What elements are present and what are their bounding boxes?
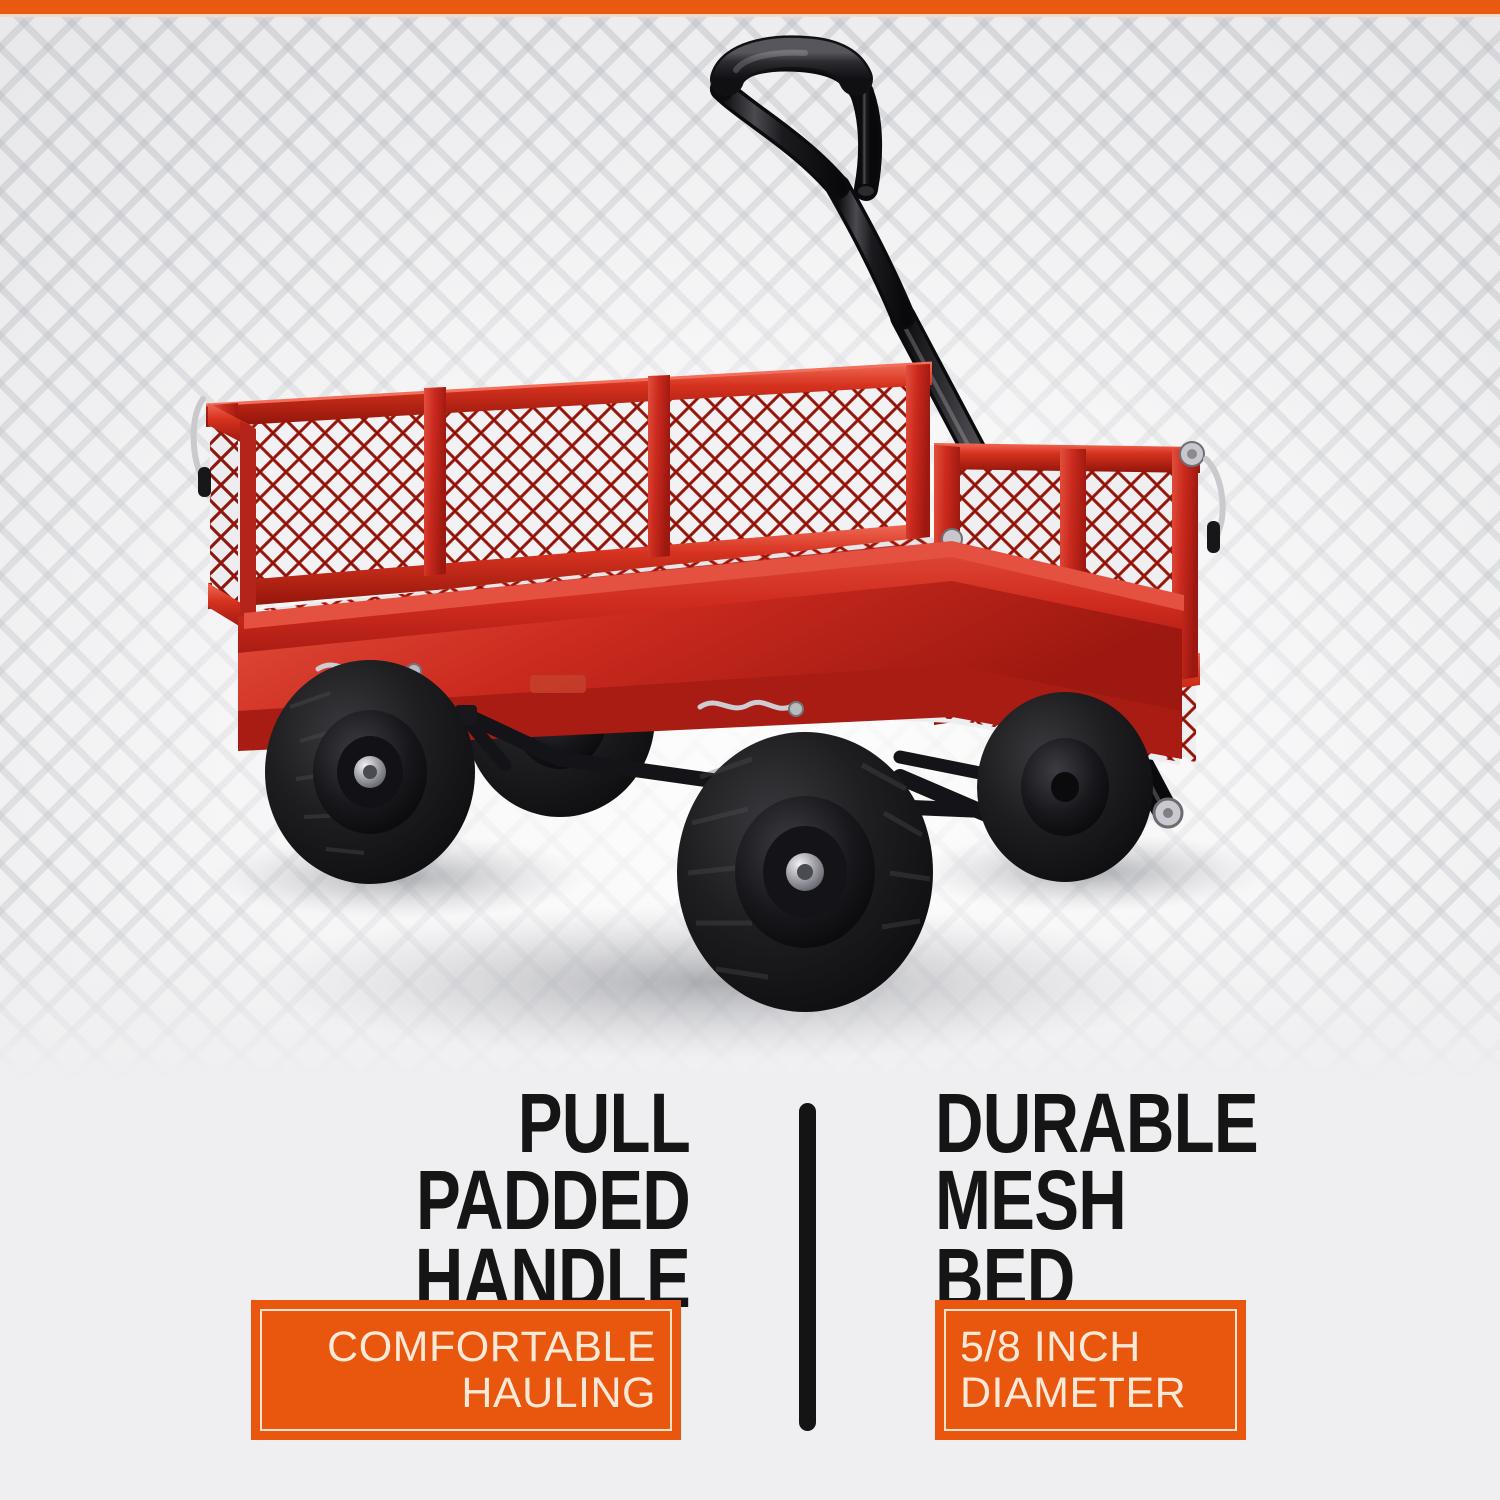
badge-five-eighths-inch-diameter: 5/8 INCH DIAMETER: [935, 1300, 1246, 1440]
feature-title-right: DURABLE MESH BED: [935, 1085, 1271, 1317]
top-accent-stripe: [0, 0, 1500, 14]
vertical-divider-bar: [799, 1103, 816, 1431]
feature-section: PULL PADDED HANDLE DURABLE MESH BED: [0, 1085, 1500, 1465]
product-photo: [0, 17, 1500, 1077]
badge-comfortable-hauling: COMFORTABLE HAULING: [251, 1300, 681, 1440]
badge-left-line-1: COMFORTABLE: [327, 1324, 656, 1370]
badge-left-inner-border: COMFORTABLE HAULING: [260, 1309, 672, 1431]
wheel-front-left: [265, 660, 475, 884]
badge-right-line-2: DIAMETER: [960, 1370, 1186, 1416]
feature-title-left: PULL PADDED HANDLE: [258, 1085, 690, 1317]
badge-right-inner-border: 5/8 INCH DIAMETER: [944, 1309, 1237, 1431]
badge-right-line-1: 5/8 INCH: [960, 1324, 1141, 1370]
wheel-rear-right: [977, 692, 1153, 882]
handle-grip: [727, 52, 856, 79]
feature-block-pull-padded-handle: PULL PADDED HANDLE: [150, 1085, 690, 1317]
wheel-front-right: [677, 732, 933, 1012]
top-accent-stripe-highlight: [0, 14, 1500, 17]
feature-block-durable-mesh-bed: DURABLE MESH BED: [935, 1085, 1355, 1317]
badge-left-line-2: HAULING: [461, 1370, 656, 1416]
product-feature-card: PULL PADDED HANDLE DURABLE MESH BED COMF…: [0, 0, 1500, 1500]
